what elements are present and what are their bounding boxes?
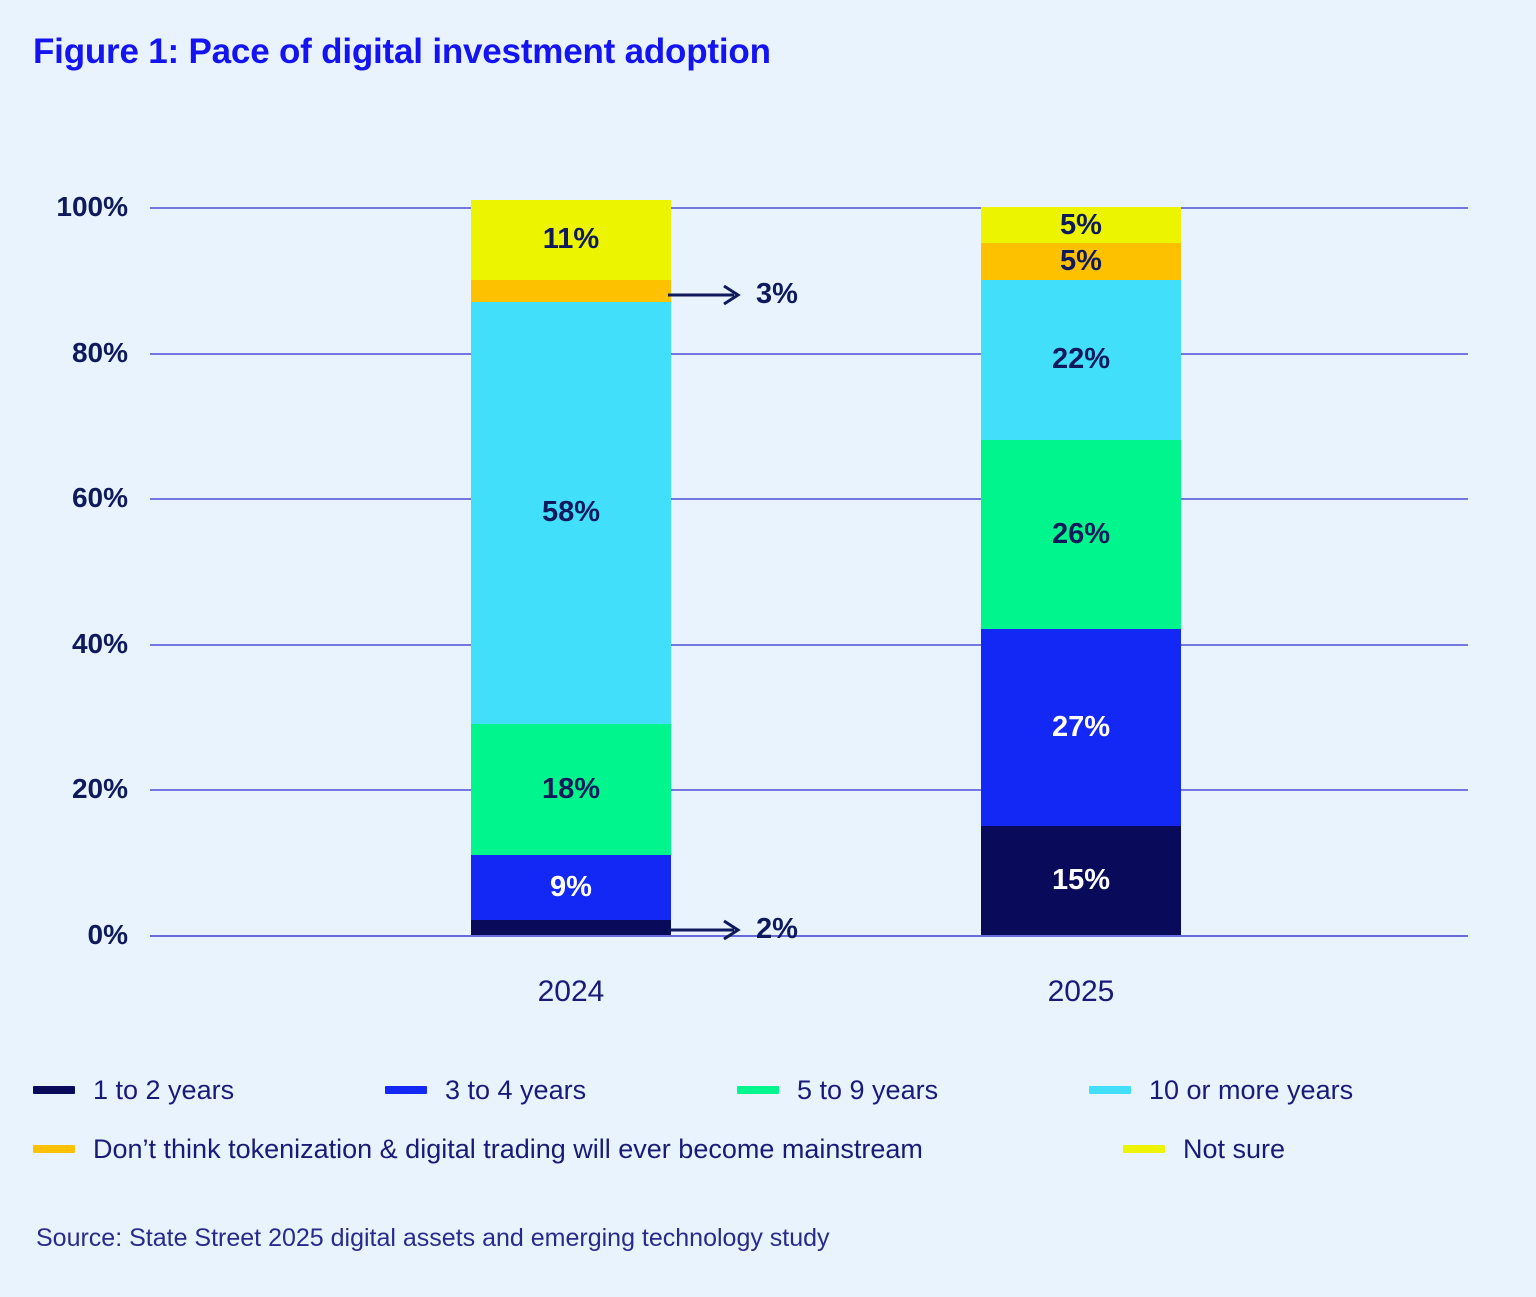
legend-item[interactable]: 3 to 4 years xyxy=(385,1075,737,1106)
y-axis-tick-60: 60% xyxy=(18,482,128,514)
bar-segment[interactable]: 18% xyxy=(471,724,671,855)
legend-item-label: 3 to 4 years xyxy=(445,1075,586,1106)
y-axis-tick-80: 80% xyxy=(18,337,128,369)
bar-segment-label: 22% xyxy=(1052,345,1110,374)
bar-segment-label: 26% xyxy=(1052,520,1110,549)
gridline-20 xyxy=(150,789,1468,791)
callout-3-percent: 3% xyxy=(668,278,798,311)
gridline-100 xyxy=(150,207,1468,209)
legend-item-label: 5 to 9 years xyxy=(797,1075,938,1106)
bar-segment[interactable]: 3% xyxy=(471,280,671,302)
bar-segment[interactable]: 5% xyxy=(981,243,1181,279)
bar-segment-label: 18% xyxy=(542,775,600,804)
bar-segment[interactable]: 22% xyxy=(981,280,1181,440)
gridline-0 xyxy=(150,935,1468,937)
legend-item-label: Not sure xyxy=(1183,1134,1285,1165)
bar-segment-label: 9% xyxy=(550,873,592,902)
legend-row-primary: 1 to 2 years3 to 4 years5 to 9 years10 o… xyxy=(33,1062,1503,1118)
bar-segment[interactable]: 11% xyxy=(471,200,671,280)
arrow-right-icon xyxy=(668,918,746,942)
gridline-80 xyxy=(150,353,1468,355)
legend-row-secondary: Don’t think tokenization & digital tradi… xyxy=(33,1118,1503,1180)
bar-segment-label: 58% xyxy=(542,498,600,527)
legend-swatch-icon xyxy=(737,1086,779,1094)
legend-item[interactable]: Don’t think tokenization & digital tradi… xyxy=(33,1134,1063,1165)
y-axis-tick-100: 100% xyxy=(18,191,128,223)
figure-container: Figure 1: Pace of digital investment ado… xyxy=(0,0,1536,1297)
legend-swatch-icon xyxy=(385,1086,427,1094)
bar-segment[interactable]: 15% xyxy=(981,826,1181,935)
bar-segment[interactable]: 9% xyxy=(471,855,671,921)
bar-segment[interactable]: 2% xyxy=(471,920,671,935)
source-note: Source: State Street 2025 digital assets… xyxy=(36,1224,830,1253)
callout-2-percent-value: 2% xyxy=(756,913,798,946)
x-axis-tick-2025: 2025 xyxy=(951,975,1211,1009)
legend-item[interactable]: Not sure xyxy=(1123,1134,1285,1165)
gridline-40 xyxy=(150,644,1468,646)
callout-2-percent: 2% xyxy=(668,913,798,946)
legend-item-label: 10 or more years xyxy=(1149,1075,1353,1106)
arrow-right-icon xyxy=(668,283,746,307)
legend-item-label: 1 to 2 years xyxy=(93,1075,234,1106)
legend-swatch-icon xyxy=(1089,1086,1131,1094)
bar-segment-label: 5% xyxy=(1060,247,1102,276)
bar-segment-label: 15% xyxy=(1052,866,1110,895)
y-axis-tick-0: 0% xyxy=(18,919,128,951)
stacked-bar-2025[interactable]: 15%27%26%22%5%5% xyxy=(981,207,1181,935)
bar-segment[interactable]: 26% xyxy=(981,440,1181,629)
legend-swatch-icon xyxy=(33,1145,75,1153)
legend: 1 to 2 years3 to 4 years5 to 9 years10 o… xyxy=(33,1062,1503,1180)
y-axis-tick-40: 40% xyxy=(18,628,128,660)
legend-item[interactable]: 1 to 2 years xyxy=(33,1075,385,1106)
gridline-60 xyxy=(150,498,1468,500)
bar-segment-label: 27% xyxy=(1052,713,1110,742)
y-axis-tick-20: 20% xyxy=(18,773,128,805)
legend-item[interactable]: 10 or more years xyxy=(1089,1075,1441,1106)
legend-item[interactable]: 5 to 9 years xyxy=(737,1075,1089,1106)
bar-segment[interactable]: 58% xyxy=(471,302,671,724)
legend-swatch-icon xyxy=(1123,1145,1165,1153)
bar-segment-label: 5% xyxy=(1060,211,1102,240)
callout-3-percent-value: 3% xyxy=(756,278,798,311)
legend-swatch-icon xyxy=(33,1086,75,1094)
stacked-bar-2024[interactable]: 2%9%18%58%3%11% xyxy=(471,200,671,935)
bar-segment[interactable]: 5% xyxy=(981,207,1181,243)
bar-segment-label: 11% xyxy=(543,225,599,254)
legend-item-label: Don’t think tokenization & digital tradi… xyxy=(93,1134,923,1165)
x-axis-tick-2024: 2024 xyxy=(441,975,701,1009)
plot-area: 2%9%18%58%3%11% 15%27%26%22%5%5% xyxy=(150,207,1468,935)
bar-segment[interactable]: 27% xyxy=(981,629,1181,826)
page-title: Figure 1: Pace of digital investment ado… xyxy=(33,32,771,72)
